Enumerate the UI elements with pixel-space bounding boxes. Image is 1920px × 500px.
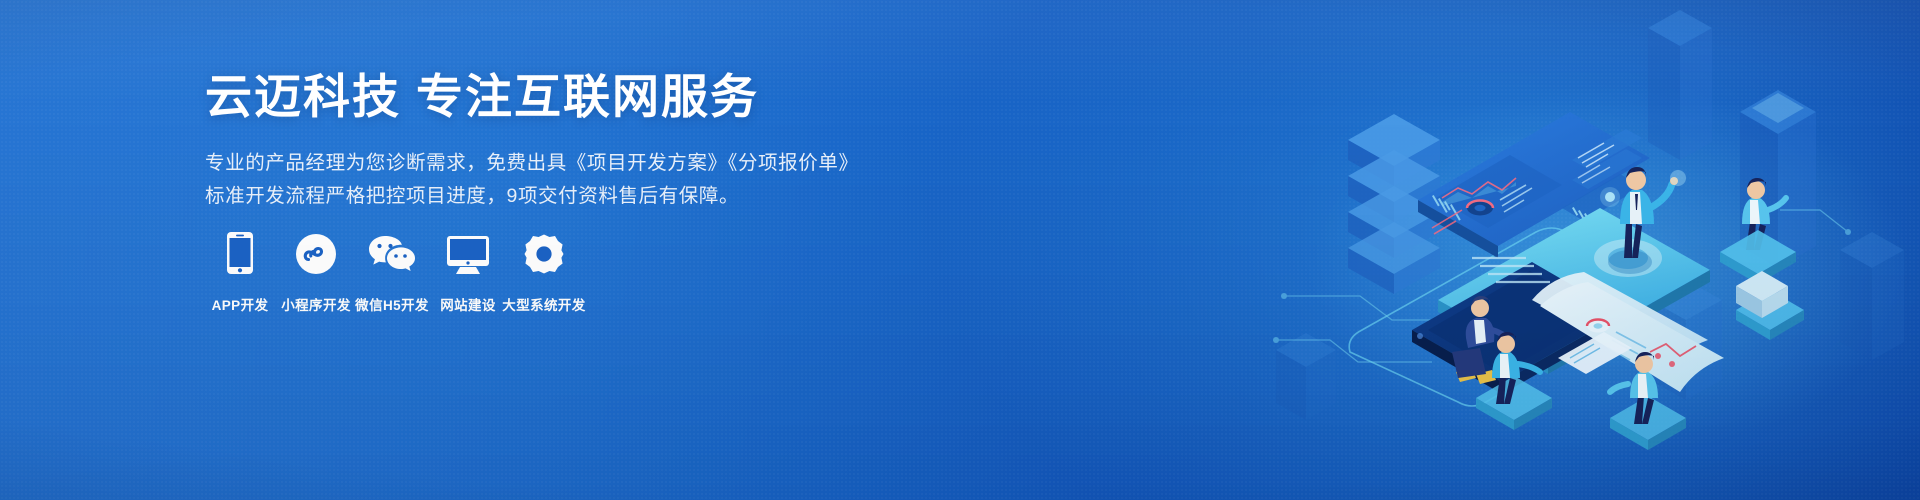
service-item-website[interactable]: 网站建设 — [433, 228, 503, 314]
mini-program-icon — [296, 228, 336, 274]
isometric-illustration — [1180, 0, 1920, 500]
subtitle-line-2: 标准开发流程严格把控项目进度，9项交付资料售后有保障。 — [205, 180, 905, 213]
service-label: 小程序开发 — [281, 294, 351, 314]
service-label: APP开发 — [212, 294, 269, 314]
hero-banner: 云迈科技 专注互联网服务 专业的产品经理为您诊断需求，免费出具《项目开发方案》《… — [0, 0, 1920, 500]
page-title: 云迈科技 专注互联网服务 — [205, 70, 905, 125]
service-item-large-system[interactable]: 大型系统开发 — [509, 228, 579, 314]
monitor-icon — [447, 228, 489, 274]
gear-icon — [524, 228, 564, 274]
subtitle-line-1: 专业的产品经理为您诊断需求，免费出具《项目开发方案》《分项报价单》 — [205, 152, 859, 174]
service-item-mini-program[interactable]: 小程序开发 — [281, 228, 351, 314]
service-item-app[interactable]: APP开发 — [205, 228, 275, 314]
subtitle: 专业的产品经理为您诊断需求，免费出具《项目开发方案》《分项报价单》 标准开发流程… — [205, 147, 905, 213]
service-list: APP开发 小程序开发 — [205, 228, 579, 314]
service-item-wechat-h5[interactable]: 微信H5开发 — [357, 228, 427, 314]
mobile-phone-icon — [227, 228, 253, 274]
service-label: 网站建设 — [440, 294, 496, 314]
copy-block: 云迈科技 专注互联网服务 专业的产品经理为您诊断需求，免费出具《项目开发方案》《… — [205, 70, 905, 213]
service-label: 大型系统开发 — [502, 294, 585, 314]
service-label: 微信H5开发 — [355, 294, 429, 314]
wechat-icon — [369, 228, 415, 274]
